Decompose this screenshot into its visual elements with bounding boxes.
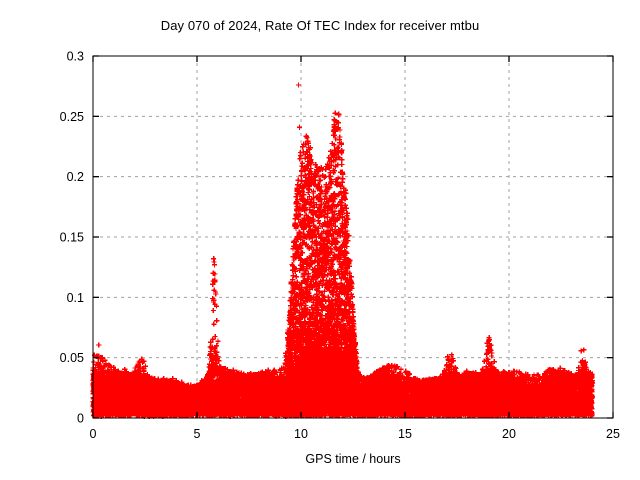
y-tick-label: 0.1 <box>67 291 84 305</box>
roti-scatter-plot: Day 070 of 2024, Rate Of TEC Index for r… <box>0 0 640 480</box>
y-tick-label: 0 <box>77 412 84 426</box>
x-tick-label: 0 <box>90 427 97 441</box>
y-tick-label: 0.15 <box>60 231 84 245</box>
y-tick-label: 0.2 <box>67 170 84 184</box>
plot-canvas: 00.050.10.150.20.250.30510152025 <box>0 0 640 480</box>
y-tick-label: 0.3 <box>67 50 84 64</box>
y-tick-label: 0.05 <box>60 351 84 365</box>
y-tick-label: 0.25 <box>60 110 84 124</box>
x-tick-label: 5 <box>194 427 201 441</box>
data-points <box>90 82 594 418</box>
x-tick-label: 10 <box>294 427 308 441</box>
x-tick-label: 15 <box>398 427 412 441</box>
x-tick-label: 20 <box>502 427 516 441</box>
x-tick-label: 25 <box>606 427 620 441</box>
